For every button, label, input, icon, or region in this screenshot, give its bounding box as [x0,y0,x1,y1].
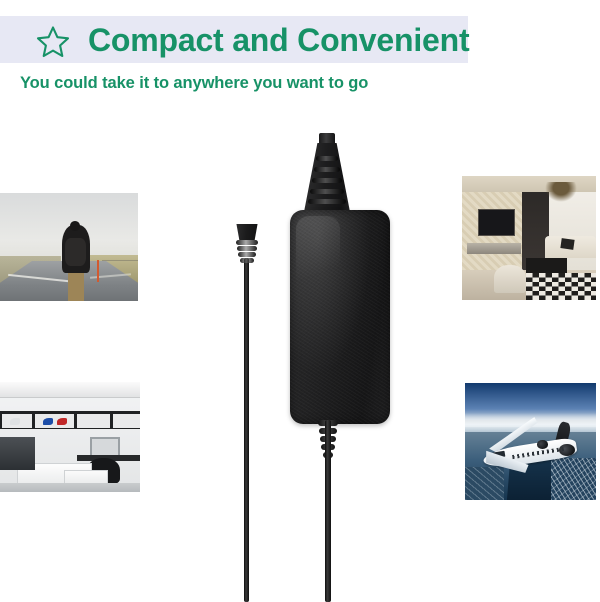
display-object-red [57,418,67,425]
plug-rib [314,167,340,172]
plug-rib [308,199,346,204]
shelf-cubby [76,413,112,429]
photo-living-room-content [462,176,596,300]
display-object-blue [43,418,53,425]
photo-office-content [0,382,140,492]
output-cable [325,420,331,602]
armchair [494,265,526,292]
connector-rib [238,252,256,257]
plug-rib [312,178,342,183]
connector-rib [237,246,257,251]
adapter-brick [290,210,390,424]
page-title: Compact and Convenient [88,18,469,63]
photo-hiker-on-road [0,193,138,301]
star-outline-icon [36,25,70,59]
display-object-white [10,418,20,425]
roadside-post [97,260,99,282]
photo-living-room [462,176,596,300]
dc-barrel-connector [235,224,259,264]
cushion [561,238,576,250]
hiker-head [70,221,80,231]
ac-inlet-plug [303,143,351,217]
dc-input-cable [244,258,249,602]
photo-office-workspace [0,382,140,492]
shelf-cubby [34,413,75,429]
photo-airplane-content [465,383,596,500]
tv-console [467,243,521,254]
connector-rib [240,258,254,263]
plug-rib [310,189,344,194]
ceiling-beam [0,382,140,398]
brick-highlight [296,216,340,289]
large-display-panel [0,437,35,470]
chandelier [545,182,577,202]
connector-rib [236,240,258,245]
floor [0,483,140,492]
connector-barrel [235,224,259,240]
coffee-table [526,258,566,273]
photo-airplane [465,383,596,500]
checkered-rug [526,273,596,300]
engine-far [537,440,547,448]
plug-rib [316,156,338,161]
shelf-cubby [112,413,140,429]
roadside-fence [102,260,138,261]
city-right [551,458,596,500]
city-left [465,467,504,500]
wall-mounted-tv [478,209,515,236]
photo-hiker-content [0,193,138,301]
hiker-backpack [65,238,86,266]
page-subtitle: You could take it to anywhere you want t… [20,74,368,93]
